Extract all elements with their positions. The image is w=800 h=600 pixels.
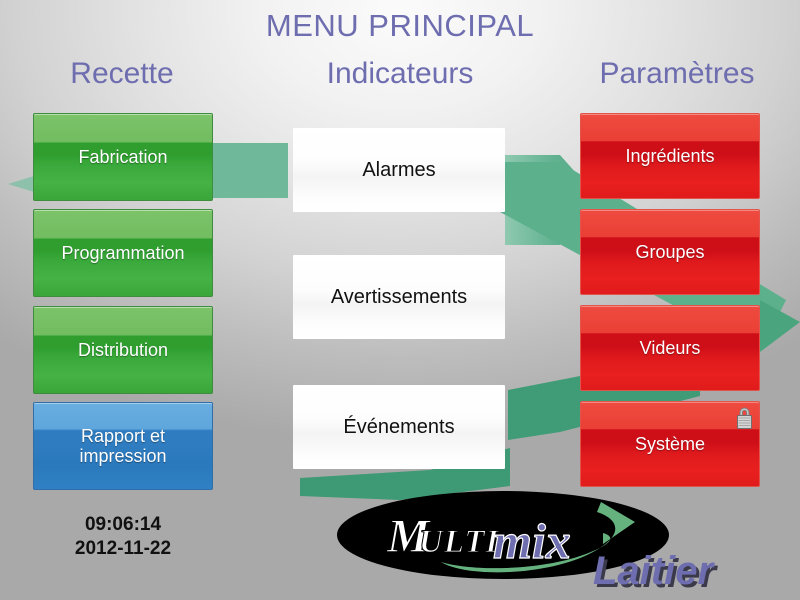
button-systeme[interactable]: Système <box>580 401 760 487</box>
laitier-text: Laitier <box>593 549 715 593</box>
button-groupes[interactable]: Groupes <box>580 209 760 295</box>
button-programmation[interactable]: Programmation <box>33 209 213 297</box>
product-line-laitier: Laitier Laitier <box>588 548 788 600</box>
button-systeme-label: Système <box>629 434 711 454</box>
button-ingredients-label: Ingrédients <box>619 146 720 166</box>
button-alarmes[interactable]: Alarmes <box>293 128 505 212</box>
page-title: MENU PRINCIPAL <box>0 8 800 44</box>
button-groupes-label: Groupes <box>629 242 710 262</box>
button-rapport-et-impression[interactable]: Rapport et impression <box>33 402 213 490</box>
column-heading-parametres: Paramètres <box>566 57 788 91</box>
button-rapport-et-impression-label: Rapport et impression <box>73 426 172 466</box>
button-programmation-label: Programmation <box>55 243 190 263</box>
button-avertissements-label: Avertissements <box>325 286 473 308</box>
column-heading-indicateurs: Indicateurs <box>290 57 510 91</box>
clock-display: 09:06:14 2012-11-22 <box>33 513 213 562</box>
button-evenements-label: Événements <box>337 416 460 438</box>
main-menu-screen: MENU PRINCIPAL Recette Indicateurs Param… <box>0 0 800 600</box>
logo-brand-ulti: ULTI <box>419 524 500 560</box>
button-ingredients[interactable]: Ingrédients <box>580 113 760 199</box>
button-distribution[interactable]: Distribution <box>33 306 213 394</box>
ribbon-tail-left <box>8 176 34 192</box>
clock-date: 2012-11-22 <box>33 537 213 561</box>
button-videurs[interactable]: Videurs <box>580 305 760 391</box>
button-alarmes-label: Alarmes <box>356 159 441 181</box>
button-distribution-label: Distribution <box>72 340 174 360</box>
button-videurs-label: Videurs <box>634 338 707 358</box>
lock-icon <box>735 406 754 434</box>
rapport-label-line1: Rapport et <box>81 426 165 446</box>
ribbon-seg-upper-left <box>205 143 288 198</box>
button-avertissements[interactable]: Avertissements <box>293 255 505 339</box>
button-fabrication-label: Fabrication <box>72 147 173 167</box>
button-evenements[interactable]: Événements <box>293 385 505 469</box>
clock-time: 09:06:14 <box>33 513 213 537</box>
button-fabrication[interactable]: Fabrication <box>33 113 213 201</box>
logo-brand-mix: mix <box>493 513 571 569</box>
rapport-label-line2: impression <box>79 446 166 466</box>
column-heading-recette: Recette <box>16 57 228 91</box>
